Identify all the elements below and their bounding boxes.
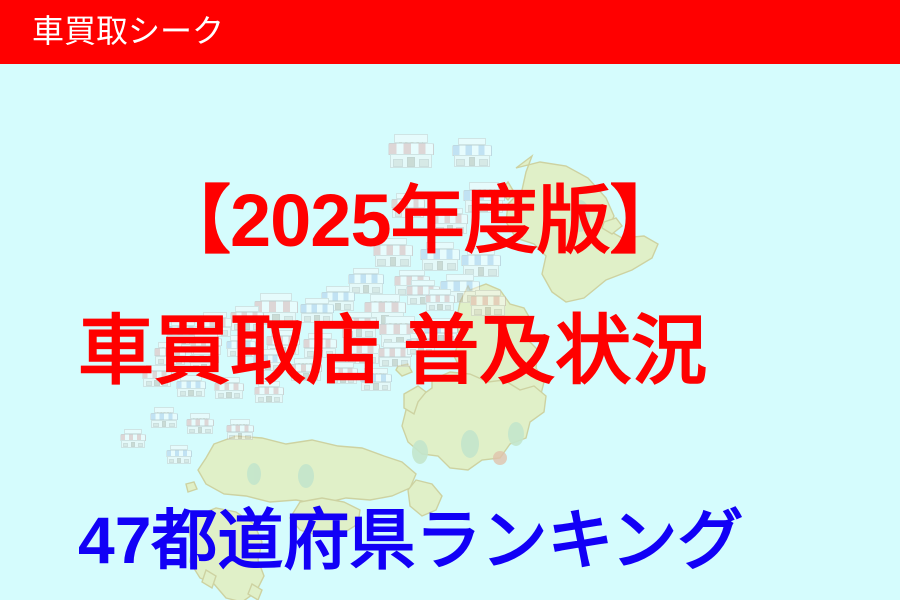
shop-signboard — [458, 138, 487, 145]
shop-window — [447, 263, 455, 270]
shop-window — [456, 159, 464, 166]
shop-window — [410, 298, 417, 304]
shop-door — [437, 261, 444, 270]
shop-window — [393, 159, 403, 167]
shop-signboard — [394, 134, 427, 143]
storefront-icon — [120, 428, 146, 448]
shop-window — [419, 159, 429, 167]
shop-front — [255, 394, 283, 403]
shop-door — [198, 427, 203, 433]
shop-signboard — [446, 274, 475, 281]
shop-window — [274, 397, 280, 402]
shop-signboard — [399, 270, 425, 277]
shop-awning — [388, 143, 434, 155]
hero-title-line-2: 車買取店 普及状況 — [78, 312, 707, 392]
shop-window — [138, 443, 143, 447]
shop-front — [390, 154, 432, 168]
shop-door — [162, 421, 167, 427]
shop-door — [266, 396, 271, 402]
shop-signboard — [411, 280, 435, 286]
shop-window — [169, 459, 174, 463]
shop-door — [131, 442, 135, 447]
shop-window — [153, 423, 159, 427]
hero-title-line-3: 47都道府県ランキング — [78, 504, 743, 576]
shop-front — [151, 420, 177, 428]
shop-front — [187, 426, 213, 434]
shop-window — [205, 429, 211, 433]
site-name-logo[interactable]: 車買取シーク — [32, 12, 224, 50]
shop-window — [229, 435, 235, 439]
shop-window — [479, 159, 487, 166]
shop-signboard — [230, 419, 250, 424]
shop-signboard — [353, 268, 379, 275]
storefront-icon — [425, 288, 455, 311]
shop-window — [169, 423, 175, 427]
shop-signboard — [370, 294, 400, 302]
storefront-icon — [150, 406, 178, 428]
shop-front — [121, 440, 145, 448]
shop-signboard — [475, 290, 501, 297]
hero-title-line-1: 【2025年度版】 — [157, 182, 683, 260]
storefront-icon — [166, 444, 192, 464]
shop-signboard — [260, 293, 292, 301]
storefront-icon — [452, 136, 492, 167]
shop-door — [457, 293, 464, 302]
shop-window — [488, 269, 496, 276]
shop-window — [123, 443, 128, 447]
shop-door — [238, 433, 243, 439]
shop-signboard — [305, 298, 329, 304]
shop-window — [258, 397, 264, 402]
shop-door — [469, 157, 476, 166]
shop-door — [407, 157, 415, 167]
shop-signboard — [190, 413, 210, 418]
shop-front — [227, 432, 253, 440]
shop-window — [245, 435, 251, 439]
shop-door — [177, 458, 181, 463]
shop-window — [189, 429, 195, 433]
shop-front — [454, 155, 491, 167]
storefront-icon — [186, 412, 214, 434]
shop-window — [184, 459, 189, 463]
site-header-bar: 車買取シーク — [0, 0, 900, 64]
shop-signboard — [326, 286, 350, 292]
storefront-icon — [226, 418, 254, 440]
storefront-icon — [388, 132, 434, 168]
shop-signboard — [154, 407, 174, 412]
shop-front — [167, 456, 191, 464]
hero-stage: 【2025年度版】 車買取店 普及状況 47都道府県ランキング — [0, 64, 900, 600]
